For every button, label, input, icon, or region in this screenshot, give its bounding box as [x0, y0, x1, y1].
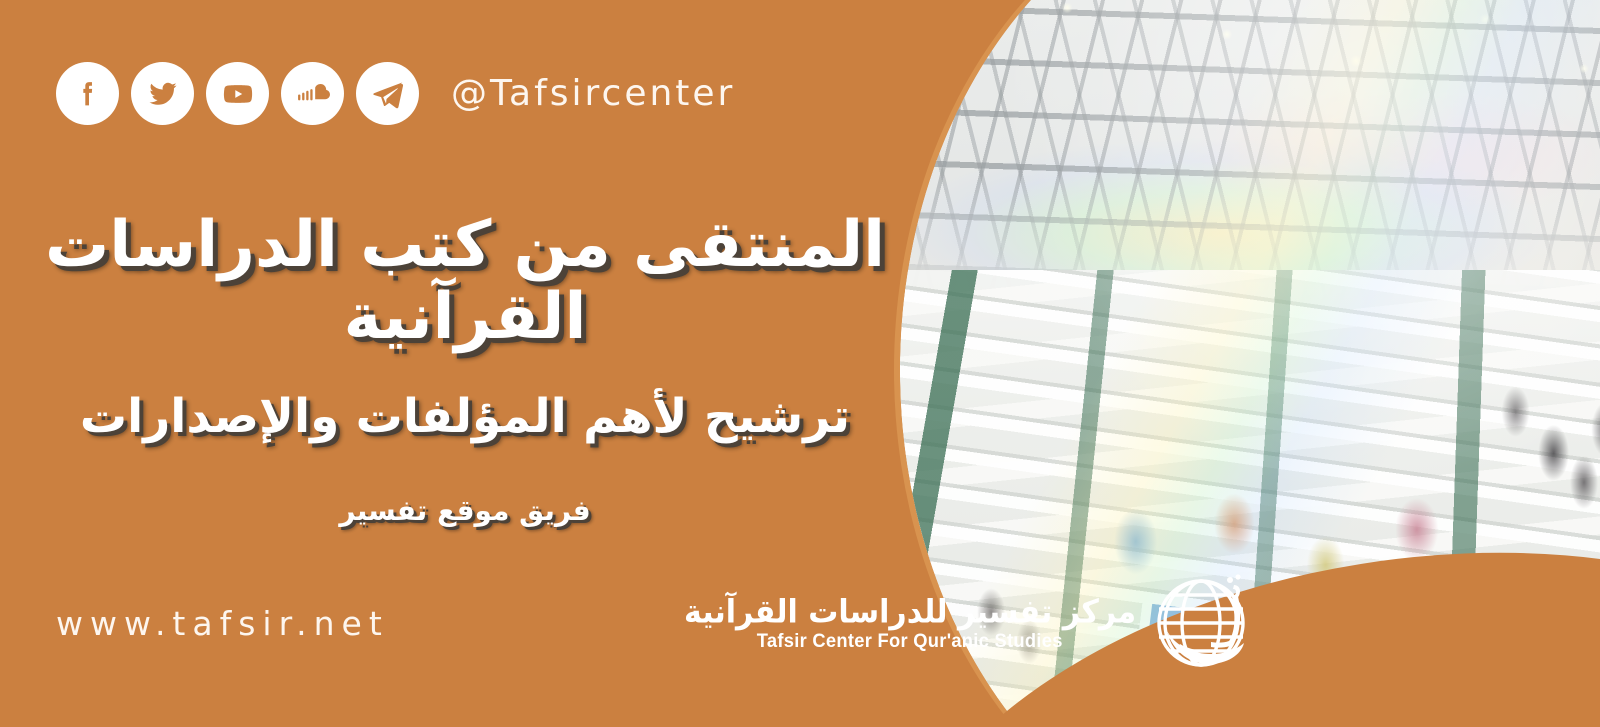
page-title: المنتقى من كتب الدراسات القرآنية — [0, 210, 930, 353]
ceiling-lights — [900, 0, 1600, 270]
banner-root: @Tafsircenter المنتقى من كتب الدراسات ال… — [0, 0, 1600, 727]
author-team-label: فريق موقع تفسير — [0, 494, 930, 528]
logo-text-group: مركز تفسير للدراسات القرآنية Tafsir Cent… — [684, 598, 1136, 653]
social-handle: @Tafsircenter — [451, 73, 735, 114]
soundcloud-icon[interactable] — [281, 62, 344, 125]
tafsir-globe-logo-icon — [1150, 568, 1252, 683]
social-links-row: @Tafsircenter — [56, 62, 735, 125]
youtube-icon[interactable] — [206, 62, 269, 125]
page-subtitle: ترشيح لأهم المؤلفات والإصدارات — [0, 389, 930, 445]
telegram-icon[interactable] — [356, 62, 419, 125]
headline-block: المنتقى من كتب الدراسات القرآنية ترشيح ل… — [0, 210, 930, 527]
tafsir-logo-lockup[interactable]: مركز تفسير للدراسات القرآنية Tafsir Cent… — [684, 568, 1252, 683]
website-url[interactable]: www.tafsir.net — [56, 604, 389, 643]
logo-english-name: Tafsir Center For Qur'anic Studies — [757, 630, 1063, 653]
twitter-icon[interactable] — [131, 62, 194, 125]
logo-arabic-name: مركز تفسير للدراسات القرآنية — [684, 597, 1136, 629]
facebook-icon[interactable] — [56, 62, 119, 125]
